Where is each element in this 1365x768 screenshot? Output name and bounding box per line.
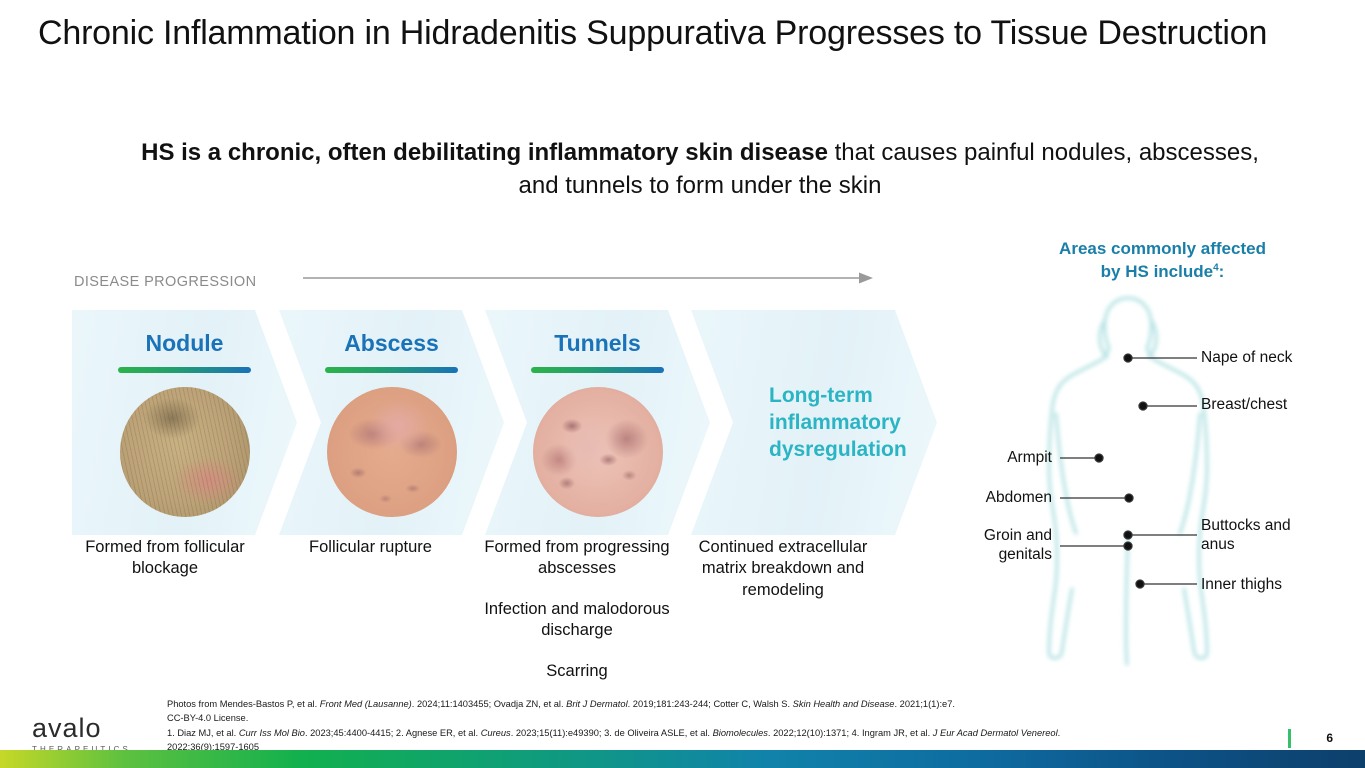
body-map-leader-lines (960, 278, 1365, 668)
stage-nodule: Nodule (72, 310, 297, 517)
body-label-abdomen: Abdomen (960, 488, 1052, 507)
disease-progression-label: DISEASE PROGRESSION (74, 274, 256, 290)
caption-tunnels: Formed from progressing abscesses Infect… (473, 537, 681, 682)
body-label-armpit: Armpit (960, 448, 1052, 467)
page-title: Chronic Inflammation in Hidradenitis Sup… (38, 12, 1328, 56)
body-map-panel: Areas commonly affected by HS include4: (960, 238, 1365, 668)
photo-credit-journal-3: Skin Health and Disease (793, 699, 895, 709)
stage-abscess-rule (325, 367, 458, 373)
photo-credit-b: . 2024;11:1403455; Ovadja ZN, et al. (412, 699, 566, 709)
caption-tunnels-line-2: Infection and malodorous discharge (473, 599, 681, 642)
ref-journal-3: Biomolecules (713, 728, 768, 738)
ref-b: . 2023;45:4400-4415; 2. Agnese ER, et al… (305, 728, 481, 738)
avalo-logo: avalo THERAPEUTICS (32, 715, 152, 754)
nodule-clinical-photo (120, 387, 250, 517)
ref-journal-2: Cureus (481, 728, 511, 738)
caption-nodule: Formed from follicular blockage (75, 537, 255, 580)
body-label-buttocks-and-anus: Buttocks andanus (1201, 516, 1291, 555)
ref-journal-1: Curr Iss Mol Bio (239, 728, 305, 738)
tunnels-clinical-photo (533, 387, 663, 517)
ref-journal-4: J Eur Acad Dermatol Venereol (933, 728, 1058, 738)
body-map-heading: Areas commonly affected by HS include4: (960, 238, 1365, 284)
body-map-heading-line-1: Areas commonly affected (1059, 239, 1266, 258)
page-number-tick (1288, 729, 1291, 748)
stage-tunnels-rule (531, 367, 664, 373)
caption-long-term: Continued extracellular matrix breakdown… (683, 537, 883, 601)
progression-arrow-icon (303, 271, 873, 285)
ref-a: 1. Diaz MJ, et al. (167, 728, 239, 738)
stage-nodule-heading: Nodule (72, 332, 297, 355)
subtitle: HS is a chronic, often debilitating infl… (120, 136, 1280, 202)
photo-credit-journal-2: Brit J Dermatol (566, 699, 627, 709)
stage-nodule-rule (118, 367, 251, 373)
subtitle-bold: HS is a chronic, often debilitating infl… (141, 139, 828, 166)
abscess-clinical-photo (327, 387, 457, 517)
body-label-groin-and-genitals: Groin andgenitals (960, 526, 1052, 565)
caption-tunnels-line-3: Scarring (473, 661, 681, 682)
stage-tunnels: Tunnels (485, 310, 710, 517)
caption-tunnels-line-1: Formed from progressing abscesses (473, 537, 681, 580)
photo-credit-a: Photos from Mendes-Bastos P, et al. (167, 699, 320, 709)
avalo-logo-wordmark: avalo (32, 715, 152, 742)
photo-credit-journal-1: Front Med (Lausanne) (320, 699, 412, 709)
stage-tunnels-heading: Tunnels (485, 332, 710, 355)
stage-abscess-heading: Abscess (279, 332, 504, 355)
license-line: CC-BY-4.0 License. (167, 713, 248, 723)
photo-credit-c: . 2019;181:243-244; Cotter C, Walsh S. (628, 699, 793, 709)
stage-abscess: Abscess (279, 310, 504, 517)
photo-credit-d: . 2021;1(1):e7. (894, 699, 954, 709)
body-label-breast-chest: Breast/chest (1201, 395, 1287, 414)
page-number: 6 (1326, 731, 1333, 745)
ref-d: . 2022;12(10):1371; 4. Ingram JR, et al. (768, 728, 933, 738)
caption-abscess: Follicular rupture (283, 537, 458, 558)
ref-c: . 2023;15(11):e49390; 3. de Oliveira ASL… (511, 728, 713, 738)
body-label-nape-of-neck: Nape of neck (1201, 348, 1292, 367)
references: Photos from Mendes-Bastos P, et al. Fron… (167, 697, 1127, 755)
bottom-gradient-bar (0, 750, 1365, 768)
stage-long-term-heading: Long-term inflammatory dysregulation (691, 382, 907, 464)
stage-long-term: Long-term inflammatory dysregulation (691, 310, 896, 535)
progression-flow: Nodule Abscess Tunnels Long-term inflamm… (72, 310, 937, 535)
body-label-inner-thighs: Inner thighs (1201, 575, 1282, 594)
